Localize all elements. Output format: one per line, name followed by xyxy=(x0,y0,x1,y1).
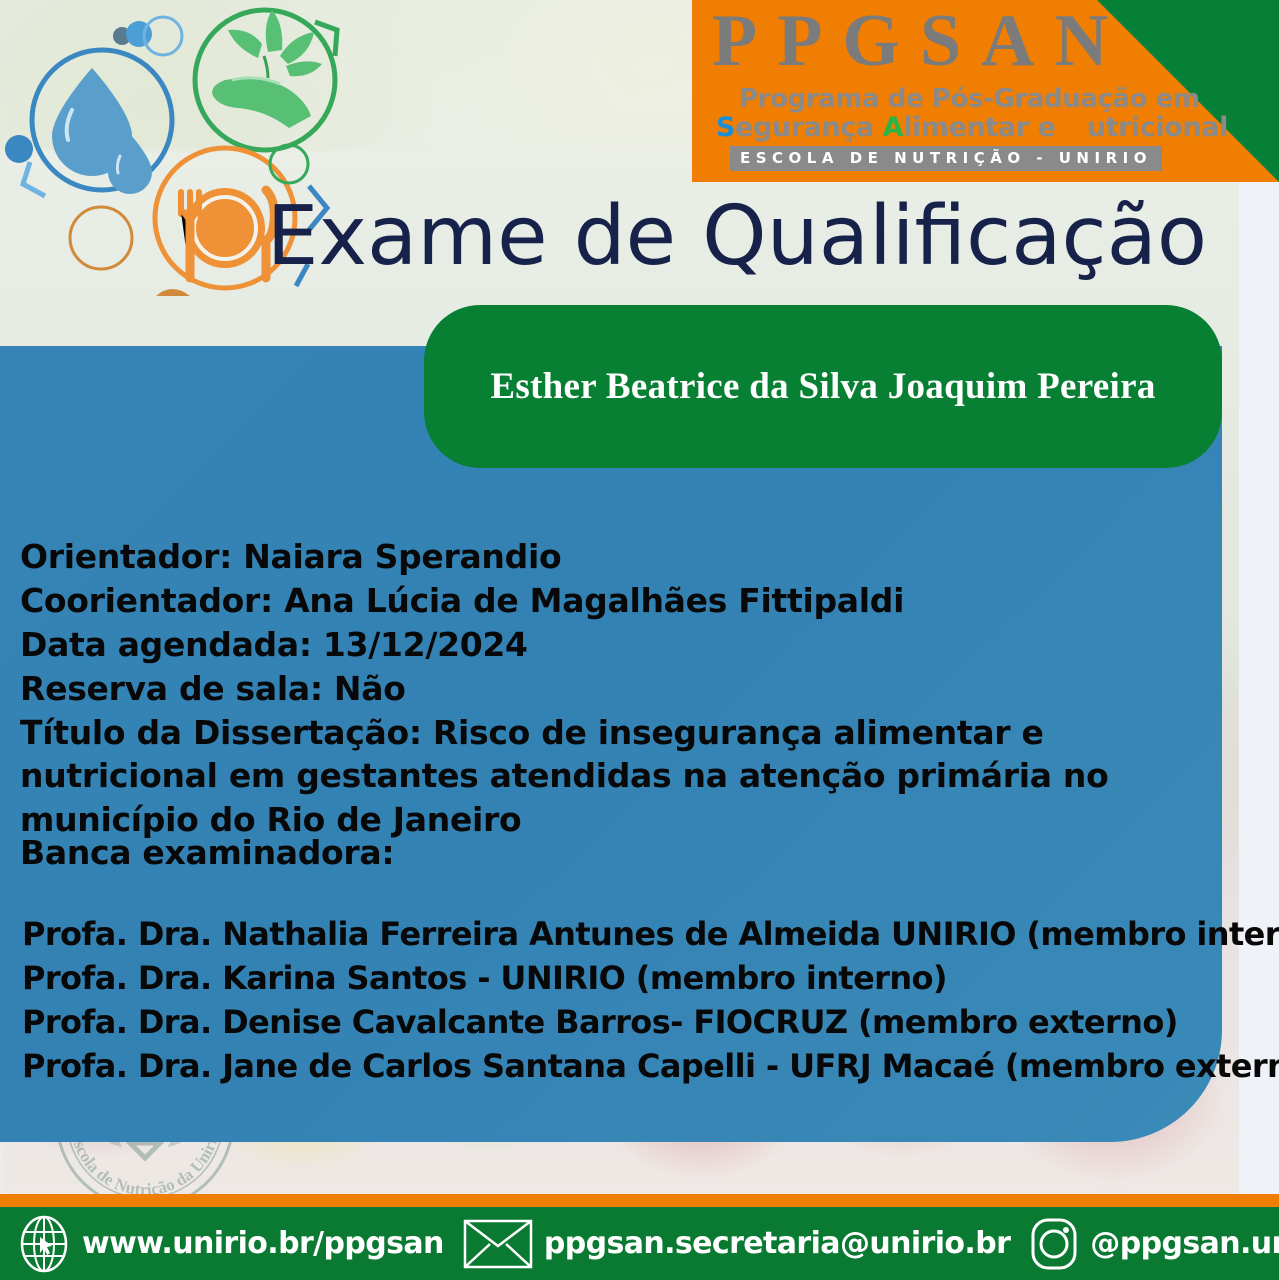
scheduled-date-line: Data agendada: 13/12/2024 xyxy=(20,623,1230,667)
envelope-icon xyxy=(462,1215,534,1273)
board-members-list: Profa. Dra. Nathalia Ferreira Antunes de… xyxy=(22,912,1237,1089)
logo-s-letter: S xyxy=(716,112,735,143)
email-contact[interactable]: ppgsan.secretaria@unirio.br xyxy=(462,1215,1010,1273)
coadvisor-line: Coorientador: Ana Lúcia de Magalhães Fit… xyxy=(20,579,1230,623)
orange-divider-strip xyxy=(0,1194,1279,1207)
advisor-line: Orientador: Naiara Sperandio xyxy=(20,535,1230,579)
email-text: ppgsan.secretaria@unirio.br xyxy=(544,1226,1010,1261)
ppgsan-program-line: Programa de Pós-Graduação em xyxy=(739,84,1200,114)
ppgsan-san-line: Segurança Alimentar e Nutricional xyxy=(716,112,1228,143)
website-contact[interactable]: www.unirio.br/ppgsan xyxy=(16,1215,444,1273)
board-member: Profa. Dra. Nathalia Ferreira Antunes de… xyxy=(22,912,1237,956)
instagram-contact[interactable]: @ppgsan.unirio xyxy=(1026,1215,1279,1273)
page-title: Exame de Qualificação xyxy=(0,196,1245,278)
room-reservation-line: Reserva de sala: Não xyxy=(20,667,1230,711)
san-theme-icon-cluster xyxy=(0,0,370,345)
student-name-banner: Esther Beatrice da Silva Joaquim Pereira xyxy=(424,305,1222,468)
ppgsan-acronym: PPGSAN xyxy=(712,4,1132,78)
globe-icon xyxy=(16,1215,72,1273)
board-member: Profa. Dra. Karina Santos - UNIRIO (memb… xyxy=(22,956,1237,1000)
logo-a-letter: A xyxy=(883,112,904,143)
board-member: Profa. Dra. Denise Cavalcante Barros- FI… xyxy=(22,1000,1237,1044)
ppgsan-school-band: ESCOLA DE NUTRIÇÃO - UNIRIO xyxy=(730,146,1162,171)
logo-seguranca-rest: egurança xyxy=(735,112,883,143)
website-text: www.unirio.br/ppgsan xyxy=(82,1226,444,1261)
ppgsan-logo-block: PPGSAN Programa de Pós-Graduação em Segu… xyxy=(692,0,1279,182)
dissertation-title-line: Título da Dissertação: Risco de insegura… xyxy=(20,711,1230,843)
instagram-icon xyxy=(1026,1215,1082,1273)
plant-in-hand-icon xyxy=(195,10,335,150)
board-heading: Banca examinadora: xyxy=(20,833,394,872)
logo-nutricional-rest: utricional xyxy=(1087,112,1228,143)
poster-canvas: Escola de Nutrição da Unirio xyxy=(0,0,1279,1280)
instagram-text: @ppgsan.unirio xyxy=(1090,1226,1279,1261)
logo-n-letter: N xyxy=(1065,112,1087,143)
contact-footer: www.unirio.br/ppgsan ppgsan.secretaria@u… xyxy=(0,1207,1279,1280)
board-member: Profa. Dra. Jane de Carlos Santana Capel… xyxy=(22,1044,1237,1088)
exam-details: Orientador: Naiara Sperandio Coorientado… xyxy=(20,535,1230,842)
water-drop-icon xyxy=(32,50,172,194)
logo-alimentar-rest: limentar e xyxy=(903,112,1064,143)
student-name: Esther Beatrice da Silva Joaquim Pereira xyxy=(490,365,1155,408)
